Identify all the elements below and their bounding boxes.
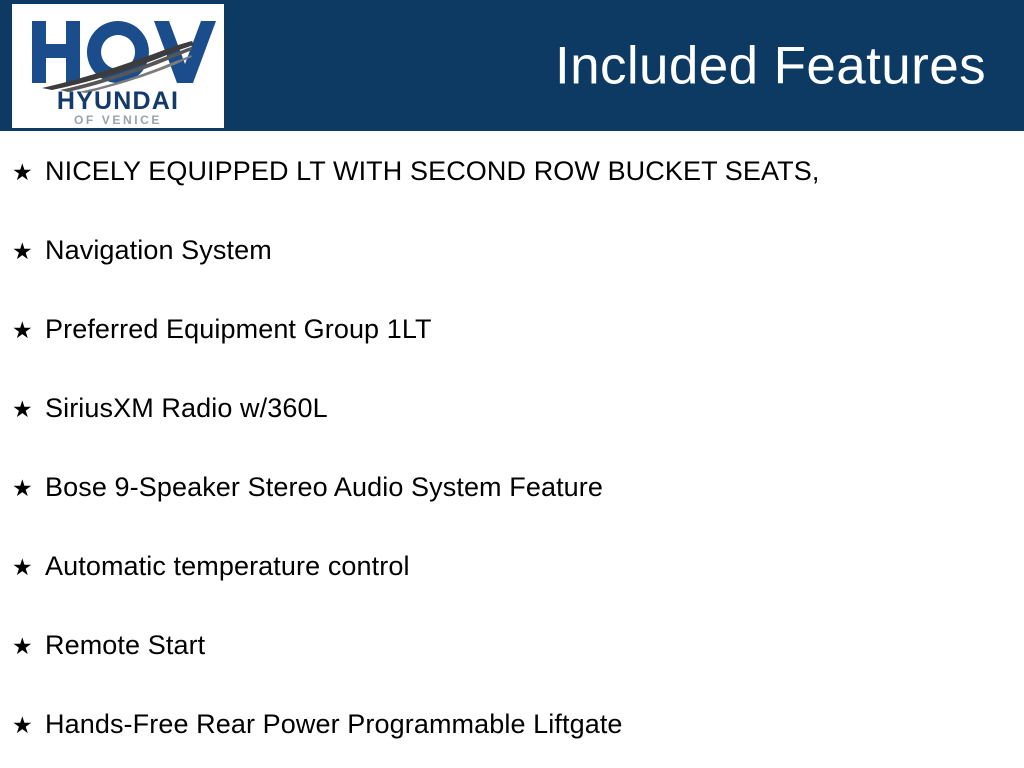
list-item: ★ Hands-Free Rear Power Programmable Lif… [0, 711, 1024, 768]
feature-label: Navigation System [45, 237, 272, 264]
page-title: Included Features [555, 39, 986, 92]
star-bullet-icon: ★ [12, 714, 45, 737]
header-band: HYUNDAI OF VENICE Included Features [0, 0, 1024, 131]
star-bullet-icon: ★ [12, 556, 45, 579]
feature-label: Automatic temperature control [45, 553, 410, 580]
feature-label: Remote Start [45, 632, 205, 659]
included-features-list: ★ NICELY EQUIPPED LT WITH SECOND ROW BUC… [0, 131, 1024, 768]
list-item: ★ Navigation System [0, 237, 1024, 316]
dealer-logo: HYUNDAI OF VENICE [12, 4, 224, 128]
list-item: ★ NICELY EQUIPPED LT WITH SECOND ROW BUC… [0, 158, 1024, 237]
svg-text:HYUNDAI: HYUNDAI [57, 87, 179, 115]
svg-text:OF VENICE: OF VENICE [74, 113, 162, 127]
feature-label: Preferred Equipment Group 1LT [45, 316, 432, 343]
list-item: ★ Remote Start [0, 632, 1024, 711]
feature-label: Hands-Free Rear Power Programmable Liftg… [45, 711, 623, 738]
hov-hyundai-of-venice-logo-icon: HYUNDAI OF VENICE [12, 4, 224, 128]
star-bullet-icon: ★ [12, 635, 45, 658]
feature-label: NICELY EQUIPPED LT WITH SECOND ROW BUCKE… [45, 158, 819, 185]
star-bullet-icon: ★ [12, 398, 45, 421]
list-item: ★ Automatic temperature control [0, 553, 1024, 632]
star-bullet-icon: ★ [12, 477, 45, 500]
star-bullet-icon: ★ [12, 161, 45, 184]
star-bullet-icon: ★ [12, 319, 45, 342]
list-item: ★ Bose 9-Speaker Stereo Audio System Fea… [0, 474, 1024, 553]
feature-label: SiriusXM Radio w/360L [45, 395, 328, 422]
list-item: ★ Preferred Equipment Group 1LT [0, 316, 1024, 395]
feature-label: Bose 9-Speaker Stereo Audio System Featu… [45, 474, 603, 501]
list-item: ★ SiriusXM Radio w/360L [0, 395, 1024, 474]
star-bullet-icon: ★ [12, 240, 45, 263]
